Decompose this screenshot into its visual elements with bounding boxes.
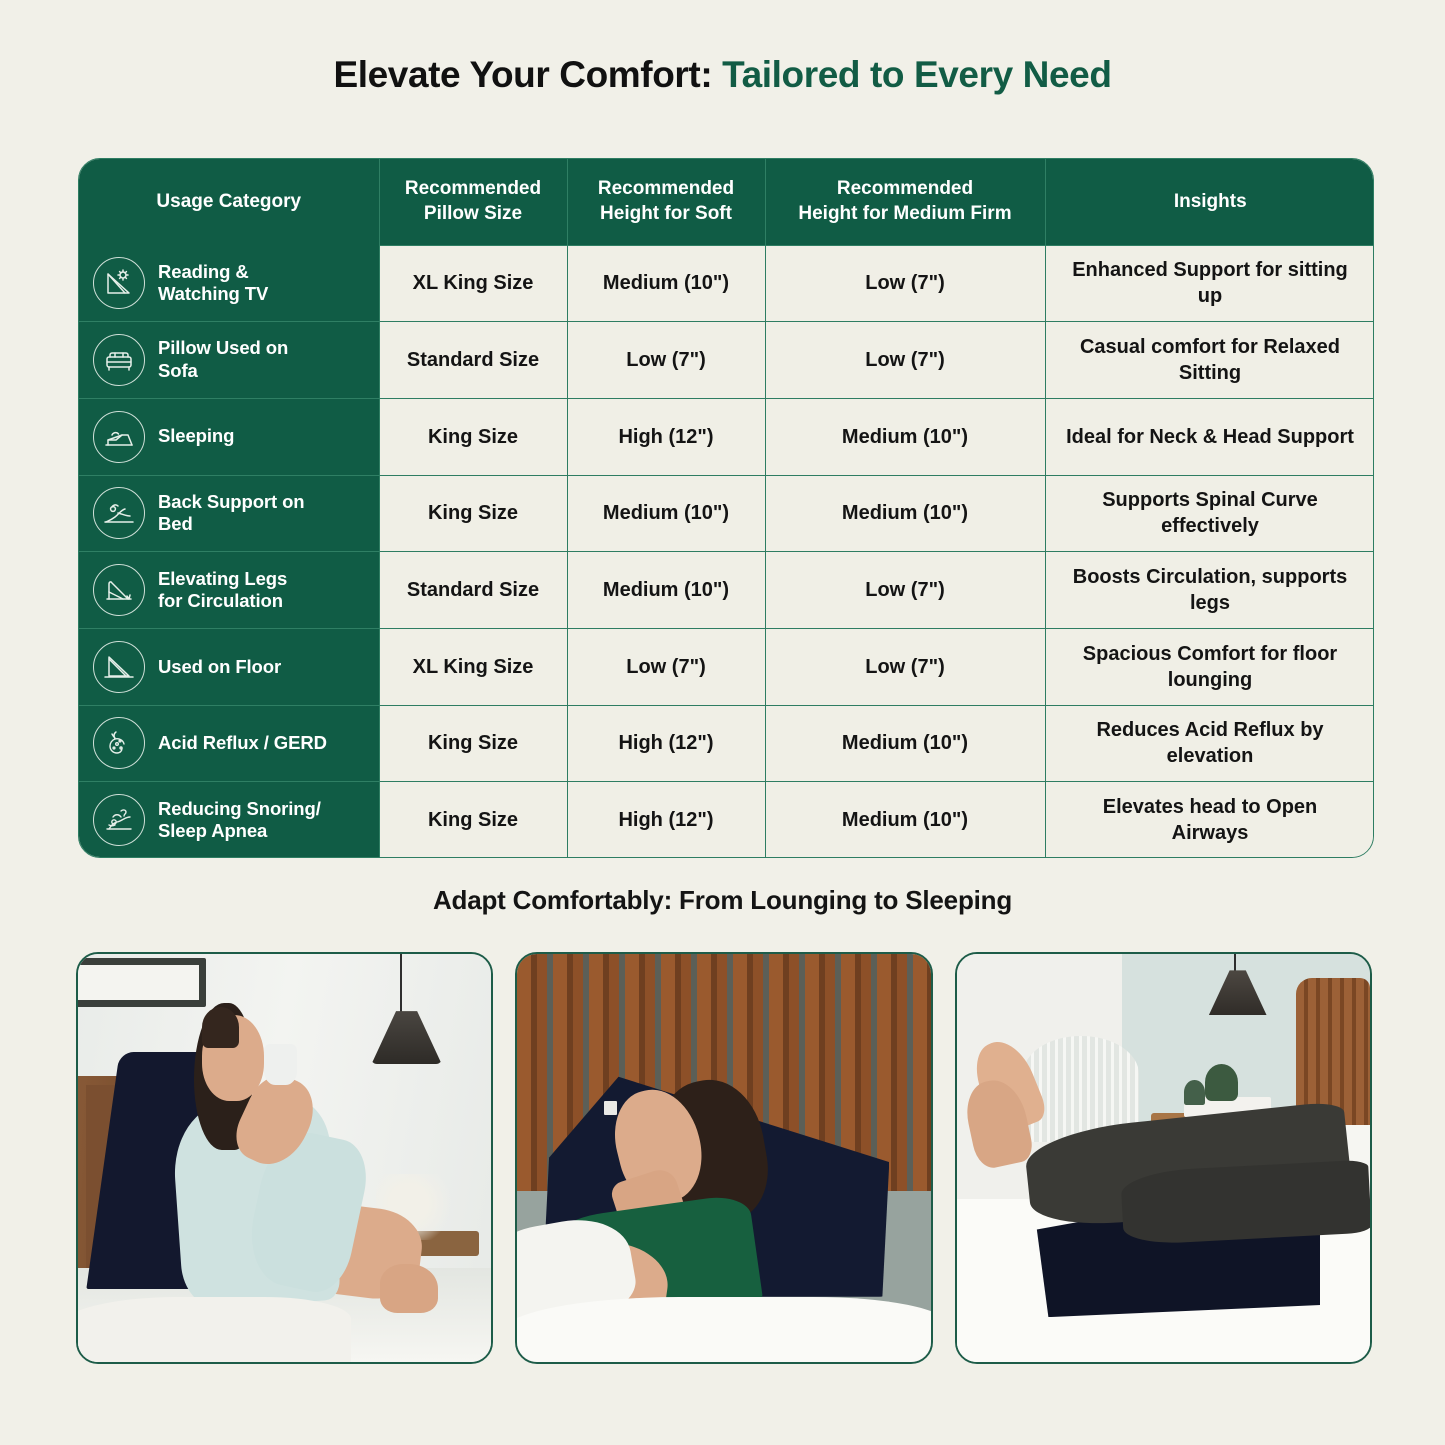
- cell-insight: Ideal for Neck & Head Support: [1045, 398, 1374, 475]
- photo-sleeping-on-wedge: [515, 952, 932, 1364]
- row-category-cell: Sleeping: [79, 398, 379, 475]
- row-category-cell: Pillow Used on Sofa: [79, 322, 379, 399]
- back-support-icon: [93, 487, 145, 539]
- cell-pillow-size: XL King Size: [379, 245, 567, 322]
- row-category-cell: Reducing Snoring/ Sleep Apnea: [79, 782, 379, 858]
- cell-height-medium-firm: Medium (10"): [765, 782, 1045, 858]
- cell-height-soft: High (12"): [567, 782, 765, 858]
- category-label: Back Support on Bed: [158, 491, 305, 536]
- cell-height-soft: Low (7"): [567, 322, 765, 399]
- table-row: Back Support on Bed King Size Medium (10…: [79, 475, 1374, 552]
- table-header-row: Usage Category Recommended Pillow Size R…: [79, 159, 1374, 245]
- cell-height-soft: High (12"): [567, 705, 765, 782]
- header-text-line1: Recommended: [837, 178, 973, 199]
- sofa-icon: [93, 334, 145, 386]
- cell-pillow-size: King Size: [379, 398, 567, 475]
- header-text-line2: Height for Medium Firm: [798, 203, 1011, 224]
- comfort-comparison-table: Usage Category Recommended Pillow Size R…: [78, 158, 1374, 858]
- table-row: Reading & Watching TV XL King Size Mediu…: [79, 245, 1374, 322]
- cell-pillow-size: King Size: [379, 705, 567, 782]
- header-text-line1: Recommended: [598, 178, 734, 199]
- cell-height-soft: Medium (10"): [567, 475, 765, 552]
- cell-height-medium-firm: Medium (10"): [765, 398, 1045, 475]
- cell-height-medium-firm: Low (7"): [765, 245, 1045, 322]
- cell-height-medium-firm: Low (7"): [765, 322, 1045, 399]
- row-category-cell: Back Support on Bed: [79, 475, 379, 552]
- gallery-heading: Adapt Comfortably: From Lounging to Slee…: [0, 885, 1445, 916]
- table-row: Used on Floor XL King Size Low (7") Low …: [79, 628, 1374, 705]
- table-row: Pillow Used on Sofa Standard Size Low (7…: [79, 322, 1374, 399]
- header-text: Usage Category: [156, 191, 301, 212]
- row-category-cell: Used on Floor: [79, 628, 379, 705]
- cell-insight: Reduces Acid Reflux by elevation: [1045, 705, 1374, 782]
- row-category-cell: Elevating Legs for Circulation: [79, 552, 379, 629]
- cell-height-medium-firm: Low (7"): [765, 628, 1045, 705]
- column-header-pillow-size: Recommended Pillow Size: [379, 159, 567, 245]
- header-text: Insights: [1174, 191, 1247, 212]
- cell-insight: Boosts Circulation, supports legs: [1045, 552, 1374, 629]
- category-label: Sleeping: [158, 425, 234, 448]
- photo-legs-elevated: [955, 952, 1372, 1364]
- snoring-sleep-apnea-icon: [93, 794, 145, 846]
- category-label: Reading & Watching TV: [158, 261, 268, 306]
- cell-insight: Casual comfort for Relaxed Sitting: [1045, 322, 1374, 399]
- header-text-line2: Pillow Size: [424, 203, 522, 224]
- page-title-lead: Elevate Your Comfort:: [333, 54, 722, 95]
- table-row: Elevating Legs for Circulation Standard …: [79, 552, 1374, 629]
- cell-insight: Supports Spinal Curve effectively: [1045, 475, 1374, 552]
- cell-insight: Spacious Comfort for floor lounging: [1045, 628, 1374, 705]
- stomach-acid-reflux-icon: [93, 717, 145, 769]
- category-label: Reducing Snoring/ Sleep Apnea: [158, 798, 321, 843]
- category-label: Pillow Used on Sofa: [158, 337, 288, 382]
- cell-height-medium-firm: Medium (10"): [765, 475, 1045, 552]
- cell-height-medium-firm: Medium (10"): [765, 705, 1045, 782]
- category-label: Acid Reflux / GERD: [158, 732, 327, 755]
- cell-pillow-size: King Size: [379, 782, 567, 858]
- photo-gallery: [76, 952, 1372, 1364]
- header-text-line1: Recommended: [405, 178, 541, 199]
- photo-reading-in-bed: [76, 952, 493, 1364]
- table-row: Reducing Snoring/ Sleep Apnea King Size …: [79, 782, 1374, 858]
- column-header-height-soft: Recommended Height for Soft: [567, 159, 765, 245]
- elevating-legs-icon: [93, 564, 145, 616]
- column-header-insights: Insights: [1045, 159, 1374, 245]
- table-row: Sleeping King Size High (12") Medium (10…: [79, 398, 1374, 475]
- cell-height-soft: Medium (10"): [567, 245, 765, 322]
- cell-height-soft: Low (7"): [567, 628, 765, 705]
- infographic-page: Elevate Your Comfort: Tailored to Every …: [0, 0, 1445, 1445]
- header-text-line2: Height for Soft: [600, 203, 732, 224]
- cell-height-soft: Medium (10"): [567, 552, 765, 629]
- cell-pillow-size: King Size: [379, 475, 567, 552]
- row-category-cell: Acid Reflux / GERD: [79, 705, 379, 782]
- category-label: Used on Floor: [158, 656, 281, 679]
- cell-pillow-size: Standard Size: [379, 322, 567, 399]
- category-label: Elevating Legs for Circulation: [158, 568, 287, 613]
- cell-height-soft: High (12"): [567, 398, 765, 475]
- row-category-cell: Reading & Watching TV: [79, 245, 379, 322]
- column-header-usage-category: Usage Category: [79, 159, 379, 245]
- sleeping-person-icon: [93, 411, 145, 463]
- cell-insight: Enhanced Support for sitting up: [1045, 245, 1374, 322]
- page-title: Elevate Your Comfort: Tailored to Every …: [0, 0, 1445, 96]
- floor-wedge-icon: [93, 641, 145, 693]
- table-row: Acid Reflux / GERD King Size High (12") …: [79, 705, 1374, 782]
- cell-height-medium-firm: Low (7"): [765, 552, 1045, 629]
- page-title-accent: Tailored to Every Need: [722, 54, 1111, 95]
- cell-insight: Elevates head to Open Airways: [1045, 782, 1374, 858]
- column-header-height-medium-firm: Recommended Height for Medium Firm: [765, 159, 1045, 245]
- wedge-pillow-sparkle-icon: [93, 257, 145, 309]
- cell-pillow-size: Standard Size: [379, 552, 567, 629]
- cell-pillow-size: XL King Size: [379, 628, 567, 705]
